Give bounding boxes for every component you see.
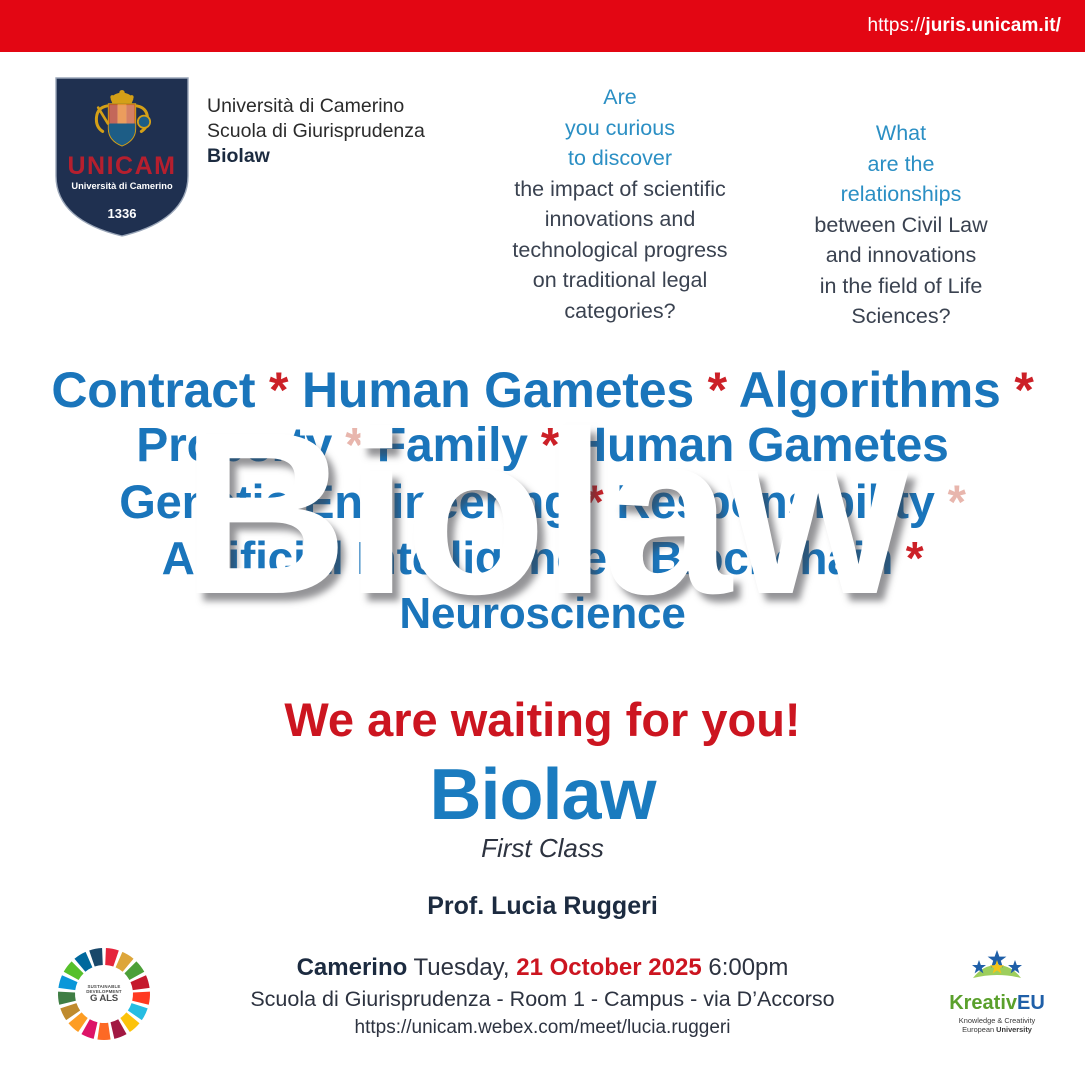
question-block-2: What are the relationships between Civil… [777,118,1025,332]
kreativeu-word-blue: EU [1017,992,1045,1014]
institution-titles: Università di Camerino Scuola di Giurisp… [207,94,425,169]
q2-body-2: and innovations [777,240,1025,271]
q1-body-1: the impact of scientific [489,174,751,205]
institution-logo-block: UNICAM Università di Camerino 1336 Unive… [52,72,472,252]
call-to-action: We are waiting for you! [0,692,1085,748]
sdg-center-text: SUSTAINABLE DEVELOPMENT G ALS [56,946,152,1042]
kreativeu-logo: KreativEU Knowledge & Creativity Europea… [938,948,1056,1040]
q2-highlight-1: What [777,118,1025,149]
speaker-name: Prof. Lucia Ruggeri [0,890,1085,922]
q1-body-5: categories? [489,296,751,327]
q1-highlight-1: Are [489,82,751,113]
keyword-line-2: Property * Family * Human Gametes [0,418,1085,474]
keyword-line-5: Neuroscience [0,586,1085,642]
unicam-shield-icon: UNICAM Università di Camerino 1336 [52,72,192,240]
q2-body-3: in the field of Life [777,271,1025,302]
event-venue: Scuola di Giurisprudenza - Room 1 - Camp… [0,984,1085,1014]
page-title: Biolaw [0,755,1085,835]
q1-highlight-3: to discover [489,143,751,174]
event-city: Camerino [297,954,408,981]
kreativeu-stars-icon [965,948,1029,986]
keyword-line-3: Genetic Engineering * Responsibility * [0,474,1085,530]
url-prefix: https:// [867,15,925,36]
question-block-1: Are you curious to discover the impact o… [489,82,751,326]
event-webex-link[interactable]: https://unicam.webex.com/meet/lucia.rugg… [0,1014,1085,1042]
svg-text:UNICAM: UNICAM [68,152,177,180]
sdg-text-3: G ALS [90,994,118,1004]
program-name: Biolaw [207,144,425,169]
sdg-wheel-logo: SUSTAINABLE DEVELOPMENT G ALS [56,946,152,1042]
url-domain: juris.unicam.it/ [925,15,1061,36]
svg-text:1336: 1336 [108,206,137,221]
university-name: Università di Camerino [207,94,425,119]
q2-highlight-3: relationships [777,179,1025,210]
svg-text:Università di Camerino: Università di Camerino [71,181,173,191]
kreativeu-tagline: Knowledge & Creativity European Universi… [938,1016,1056,1035]
header-bar: https://juris.unicam.it/ [0,0,1085,52]
keyword-cloud: Contract * Human Gametes * Algorithms * … [0,362,1085,662]
q1-body-3: technological progress [489,235,751,266]
page-subtitle: First Class [0,832,1085,864]
q2-body-4: Sciences? [777,301,1025,332]
site-url[interactable]: https://juris.unicam.it/ [867,15,1085,37]
keyword-line-4: Artificial Intelligence * Blockchain * [0,530,1085,586]
q2-body-1: between Civil Law [777,210,1025,241]
kreativeu-tag-2b: University [996,1025,1032,1034]
kreativeu-word-green: Kreativ [949,992,1017,1014]
event-time: 6:00pm [708,954,788,981]
kreativeu-tag-2: European University [938,1025,1056,1034]
event-weekday: Tuesday, [414,954,510,981]
event-datetime-line: Camerino Tuesday, 21 October 2025 6:00pm [0,952,1085,984]
event-date: 21 October 2025 [516,954,701,981]
q1-highlight-2: you curious [489,113,751,144]
q1-body-4: on traditional legal [489,265,751,296]
q2-highlight-2: are the [777,149,1025,180]
kreativeu-wordmark: KreativEU [938,992,1056,1014]
kreativeu-tag-2a: European [962,1025,996,1034]
kreativeu-tag-1: Knowledge & Creativity [938,1016,1056,1025]
school-name: Scuola di Giurisprudenza [207,119,425,144]
event-details: Camerino Tuesday, 21 October 2025 6:00pm… [0,952,1085,1042]
keyword-line-1: Contract * Human Gametes * Algorithms * [0,362,1085,418]
q1-body-2: innovations and [489,204,751,235]
